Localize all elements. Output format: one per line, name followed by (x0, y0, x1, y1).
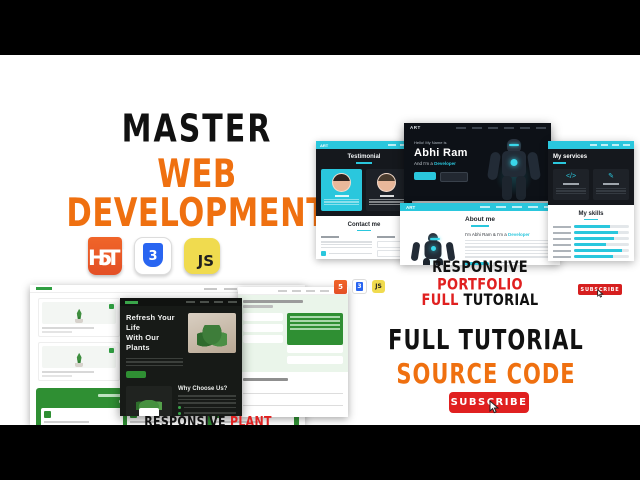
about-subtitle-prefix: I'm Abhi Ram & I'm a (465, 232, 508, 237)
portfolio-nav[interactable]: ART (316, 141, 412, 149)
nav-link[interactable] (520, 127, 530, 129)
nav-link[interactable] (228, 301, 237, 303)
cart-badge-icon (109, 304, 114, 309)
services-section: My services </> ✎ (548, 149, 634, 205)
skill-label (553, 256, 571, 258)
cta-line-1: FULL TUTORIAL (378, 327, 594, 354)
plant-hero-title-line-2: With Our Plants (126, 333, 183, 353)
html5-logo-label: 5 (88, 246, 122, 270)
skills-title: My skills (553, 211, 629, 217)
subscribe-badge-label: SUBSCRIBE (581, 287, 620, 293)
contact-title (243, 378, 288, 381)
product-card[interactable] (38, 342, 120, 381)
plant-hero-explore-button[interactable] (126, 371, 146, 378)
subscribe-button[interactable]: SUBSCRIBE (449, 392, 529, 413)
step-card (41, 408, 123, 425)
skill-label (553, 244, 571, 246)
nav-link[interactable] (214, 301, 223, 303)
faq-question[interactable] (243, 313, 283, 321)
plant-contact-section (238, 372, 348, 417)
css3-logo: 3 (352, 279, 367, 294)
contact-detail (321, 251, 372, 256)
plant-logo-icon (125, 301, 138, 304)
css3-logo-label: 3 (143, 249, 163, 264)
portfolio-brand: ART (320, 143, 328, 148)
faq-question[interactable] (243, 324, 283, 332)
nav-link[interactable] (488, 127, 498, 129)
plant-logo-icon (36, 287, 52, 290)
skill-progress-bar (574, 237, 629, 240)
nav-link[interactable] (320, 290, 329, 292)
skill-row (553, 255, 629, 258)
cta-line-2: SOURCE CODE (378, 361, 594, 388)
skill-progress-bar (574, 231, 629, 234)
message-form-label (377, 236, 395, 238)
skill-row (553, 225, 629, 228)
skill-progress-bar (574, 243, 629, 246)
nav-link[interactable] (612, 144, 619, 146)
tech-logo-group-portfolio: 5 3 JS (334, 279, 385, 294)
cta-block: FULL TUTORIAL SOURCE CODE (378, 327, 594, 382)
plant-caption-line1-a: RESPONSIVE (144, 414, 230, 425)
portfolio-testimonial-page[interactable]: ART Testimonial Contact (316, 141, 412, 259)
why-list-item (178, 406, 236, 409)
plant-why-section: Why Choose Us? (178, 386, 236, 416)
tech-logo-group-main: HTML 5 3 JS (88, 237, 220, 275)
html5-logo: 5 (334, 280, 347, 294)
nav-link[interactable] (456, 127, 466, 129)
headline-line-2: WEB DEVELOPMENT (49, 156, 345, 234)
plant-why-title: Why Choose Us? (178, 386, 236, 392)
skill-row (553, 237, 629, 240)
skill-progress-bar (574, 255, 629, 258)
subscribe-badge[interactable]: SUBSCRIBE (578, 284, 622, 295)
testimonial-section: Testimonial (316, 149, 412, 216)
plant-hero-title-line-1: Refresh Your Life (126, 313, 183, 333)
service-card: ✎ (593, 169, 629, 200)
portfolio-caption: RESPONSIVE PORTFOLIO FULL TUTORIAL (390, 260, 570, 310)
nav-link[interactable] (590, 144, 597, 146)
portfolio-brand: ART (410, 125, 421, 130)
portfolio-hero-nav[interactable]: ART (404, 123, 551, 132)
nav-link[interactable] (601, 144, 608, 146)
about-title: About me (400, 216, 560, 223)
hire-me-button[interactable] (414, 172, 436, 180)
faq-question[interactable] (287, 356, 343, 364)
nav-link[interactable] (504, 127, 514, 129)
nav-link[interactable] (480, 206, 490, 208)
service-card: </> (553, 169, 589, 200)
skill-progress-bar (574, 249, 629, 252)
download-cv-button[interactable] (440, 172, 468, 182)
faq-question[interactable] (287, 345, 343, 353)
portfolio-hero-page[interactable]: ART Hello! My Name is Abhi Ram And I'm a… (404, 123, 551, 201)
portfolio-about-page[interactable]: ART About me (400, 203, 560, 265)
faq-title-line-2 (243, 305, 273, 308)
portfolio-about-nav[interactable]: ART (400, 203, 560, 211)
faq-question[interactable] (243, 335, 283, 343)
plant-site-faq-page[interactable] (238, 287, 348, 417)
contact-title: Contact me (321, 222, 407, 228)
nav-link[interactable] (204, 288, 217, 290)
about-subtitle-highlight: Developer (508, 232, 530, 237)
step-icon (44, 411, 51, 418)
code-icon: </> (556, 173, 586, 180)
plant-site-hero-page[interactable]: Refresh Your Life With Our Plants Why Ch… (120, 298, 242, 416)
nav-link[interactable] (528, 206, 538, 208)
testimonial-title: Testimonial (321, 154, 407, 160)
thumbnail-canvas: MASTER WEB DEVELOPMENT HTML 5 3 JS (0, 55, 640, 425)
nav-link[interactable] (512, 206, 522, 208)
hero-role-prefix: And I'm a (414, 161, 434, 166)
avatar (332, 173, 351, 192)
faq-title-line-1 (243, 300, 303, 303)
portfolio-caption-line2-a: FULL (422, 292, 464, 310)
nav-link[interactable] (623, 144, 630, 146)
subscribe-button-label: SUBSCRIBE (451, 397, 528, 408)
portfolio-brand: ART (406, 205, 415, 210)
skill-row (553, 249, 629, 252)
hero-role: Developer (434, 161, 456, 166)
video-thumbnail-frame: MASTER WEB DEVELOPMENT HTML 5 3 JS (0, 0, 640, 480)
skill-label (553, 232, 571, 234)
portfolio-services-page[interactable]: My services </> ✎ My skills (548, 141, 634, 261)
html5-logo-label: 5 (334, 283, 347, 291)
faq-answer-open[interactable] (287, 313, 343, 345)
faq-section (238, 295, 348, 372)
phone-icon (321, 251, 326, 256)
nav-link[interactable] (536, 127, 546, 129)
plant-pot-image (126, 386, 172, 416)
javascript-logo: JS (372, 280, 385, 293)
css3-logo-label: 3 (356, 283, 363, 290)
cart-badge-icon (109, 348, 114, 353)
javascript-logo-label: JS (372, 283, 385, 290)
avatar (377, 173, 396, 192)
plant-hero-nav[interactable] (120, 298, 242, 306)
services-title: My services (553, 154, 629, 160)
contact-input[interactable] (243, 399, 343, 406)
nav-link[interactable] (472, 127, 482, 129)
portfolio-caption-line1-b: PORTFOLIO (437, 275, 523, 293)
plant-caption: RESPONSIVE PLANT FULL TUTORIAL (128, 415, 288, 425)
plant-faq-nav[interactable] (238, 287, 348, 295)
nav-link[interactable] (292, 290, 301, 292)
headline-line-1: MASTER (52, 111, 342, 149)
portfolio-caption-line1-a: RESPONSIVE (432, 259, 528, 277)
html5-logo: HTML 5 (88, 237, 122, 275)
product-card[interactable] (38, 298, 120, 337)
hero-name: Abhi Ram (414, 147, 479, 159)
nav-link[interactable] (306, 290, 315, 292)
nav-link[interactable] (186, 301, 195, 303)
hero-greeting: Hello! My Name is (414, 140, 479, 145)
portfolio-services-nav[interactable] (548, 141, 634, 149)
skill-row (553, 243, 629, 246)
skill-label (553, 226, 571, 228)
nav-link[interactable] (388, 144, 396, 146)
contact-subtitle (321, 236, 339, 238)
portfolio-contact-section: Contact me (316, 216, 412, 259)
contact-input[interactable] (243, 387, 343, 394)
skill-row (553, 231, 629, 234)
css3-logo: 3 (134, 237, 172, 275)
pen-icon: ✎ (596, 173, 626, 180)
nav-link[interactable] (278, 290, 287, 292)
nav-link[interactable] (496, 206, 506, 208)
testimonial-card (321, 169, 362, 211)
skill-progress-bar (574, 225, 629, 228)
skill-label (553, 250, 571, 252)
portfolio-caption-line2-b: TUTORIAL (464, 292, 539, 310)
skills-section: My skills (548, 205, 634, 261)
headline-block: MASTER WEB DEVELOPMENT (52, 111, 342, 216)
plant-caption-line1-b: PLANT (230, 414, 272, 425)
nav-link[interactable] (224, 288, 237, 290)
javascript-logo-label: JS (184, 252, 220, 270)
javascript-logo: JS (184, 238, 220, 274)
skill-label (553, 238, 571, 240)
plant-hero-image (188, 313, 236, 353)
nav-link[interactable] (200, 301, 209, 303)
hero-robot-illustration (479, 132, 551, 201)
